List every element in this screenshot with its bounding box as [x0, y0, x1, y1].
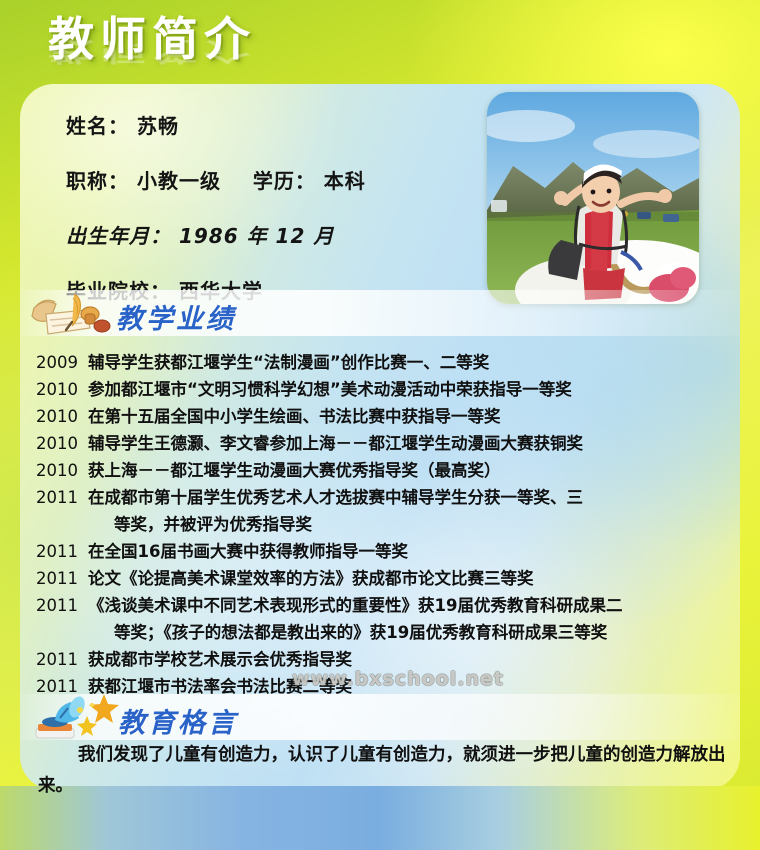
achievement-text: 获上海－－都江堰学生动漫画大赛优秀指导奖（最高奖） [88, 458, 736, 484]
achievement-row: 2010 辅导学生王德灏、李文睿参加上海－－都江堰学生动漫画大赛获铜奖 [36, 431, 736, 457]
achievement-year: 2010 [36, 458, 88, 484]
profile-birth-row: 出生年月： 1986 年 12 月 [66, 220, 476, 249]
achievement-text: 参加都江堰市“文明习惯科学幻想”美术动漫活动中荣获指导一等奖 [88, 377, 736, 403]
achievement-text: 在第十五届全国中小学生绘画、书法比赛中获指导一等奖 [88, 404, 736, 430]
achievement-year: 2010 [36, 404, 88, 430]
scroll-quill-icon [28, 286, 114, 344]
motto-text: 我们发现了儿童有创造力，认识了儿童有创造力，就须进一步把儿童的创造力解放出来。 [38, 740, 728, 802]
page-title-reflection: 教师简介 [48, 39, 256, 64]
achievement-year: 2010 [36, 431, 88, 457]
achievement-year: 2011 [36, 566, 88, 592]
achievement-row: 2010 参加都江堰市“文明习惯科学幻想”美术动漫活动中荣获指导一等奖 [36, 377, 736, 403]
profile-name-row: 姓名： 苏畅 [66, 110, 476, 139]
achievement-year: 2011 [36, 593, 88, 619]
achievement-year: 2011 [36, 485, 88, 511]
achievements-list: 2009 辅导学生获都江堰学生“法制漫画”创作比赛一、二等奖 2010 参加都江… [36, 350, 736, 701]
achievement-row: 2010 在第十五届全国中小学生绘画、书法比赛中获指导一等奖 [36, 404, 736, 430]
achievement-text: 《浅谈美术课中不同艺术表现形式的重要性》获19届优秀教育科研成果二 [88, 593, 736, 619]
profile-rank-row: 职称： 小教一级 学历： 本科 [66, 165, 476, 194]
achievement-row: 2011 在成都市第十届学生优秀艺术人才选拔赛中辅导学生分获一等奖、三 [36, 485, 736, 511]
photo-illustration [487, 92, 699, 304]
motto-section-title: 教育格言 [118, 701, 238, 740]
achievement-text: 获成都市学校艺术展示会优秀指导奖 [88, 647, 736, 673]
achievement-row: 2011 论文《论提高美术课堂效率的方法》获成都市论文比赛三等奖 [36, 566, 736, 592]
achievement-row: 2010 获上海－－都江堰学生动漫画大赛优秀指导奖（最高奖） [36, 458, 736, 484]
achievement-row: 2011 《浅谈美术课中不同艺术表现形式的重要性》获19届优秀教育科研成果二 [36, 593, 736, 619]
achievement-row: 2009 辅导学生获都江堰学生“法制漫画”创作比赛一、二等奖 [36, 350, 736, 376]
achievement-text: 等奖，并被评为优秀指导奖 [88, 512, 736, 538]
achievement-text: 在成都市第十届学生优秀艺术人才选拔赛中辅导学生分获一等奖、三 [88, 485, 736, 511]
achievement-row: 2011 在全国16届书画大赛中获得教师指导一等奖 [36, 539, 736, 565]
achievement-row-continuation: 0000 等奖，并被评为优秀指导奖 [36, 512, 736, 538]
achievement-text: 等奖；《孩子的想法都是教出来的》获19届优秀教育科研成果三等奖 [88, 620, 736, 646]
achievement-text: 辅导学生获都江堰学生“法制漫画”创作比赛一、二等奖 [88, 350, 736, 376]
achievement-text: 论文《论提高美术课堂效率的方法》获成都市论文比赛三等奖 [88, 566, 736, 592]
achievements-section-title: 教学业绩 [116, 297, 236, 336]
page-title-block: 教师简介 教师简介 [48, 16, 256, 110]
teacher-photo [487, 92, 699, 304]
achievement-year: 2009 [36, 350, 88, 376]
achievement-year: 2011 [36, 539, 88, 565]
achievement-row-continuation: 0000 等奖；《孩子的想法都是教出来的》获19届优秀教育科研成果三等奖 [36, 620, 736, 646]
achievement-row: 2011 获成都市学校艺术展示会优秀指导奖 [36, 647, 736, 673]
achievement-text: 辅导学生王德灏、李文睿参加上海－－都江堰学生动漫画大赛获铜奖 [88, 431, 736, 457]
teacher-profile-poster: 教师简介 教师简介 [0, 0, 760, 850]
achievement-text: 在全国16届书画大赛中获得教师指导一等奖 [88, 539, 736, 565]
achievement-year: 2010 [36, 377, 88, 403]
achievement-year: 2011 [36, 647, 88, 673]
